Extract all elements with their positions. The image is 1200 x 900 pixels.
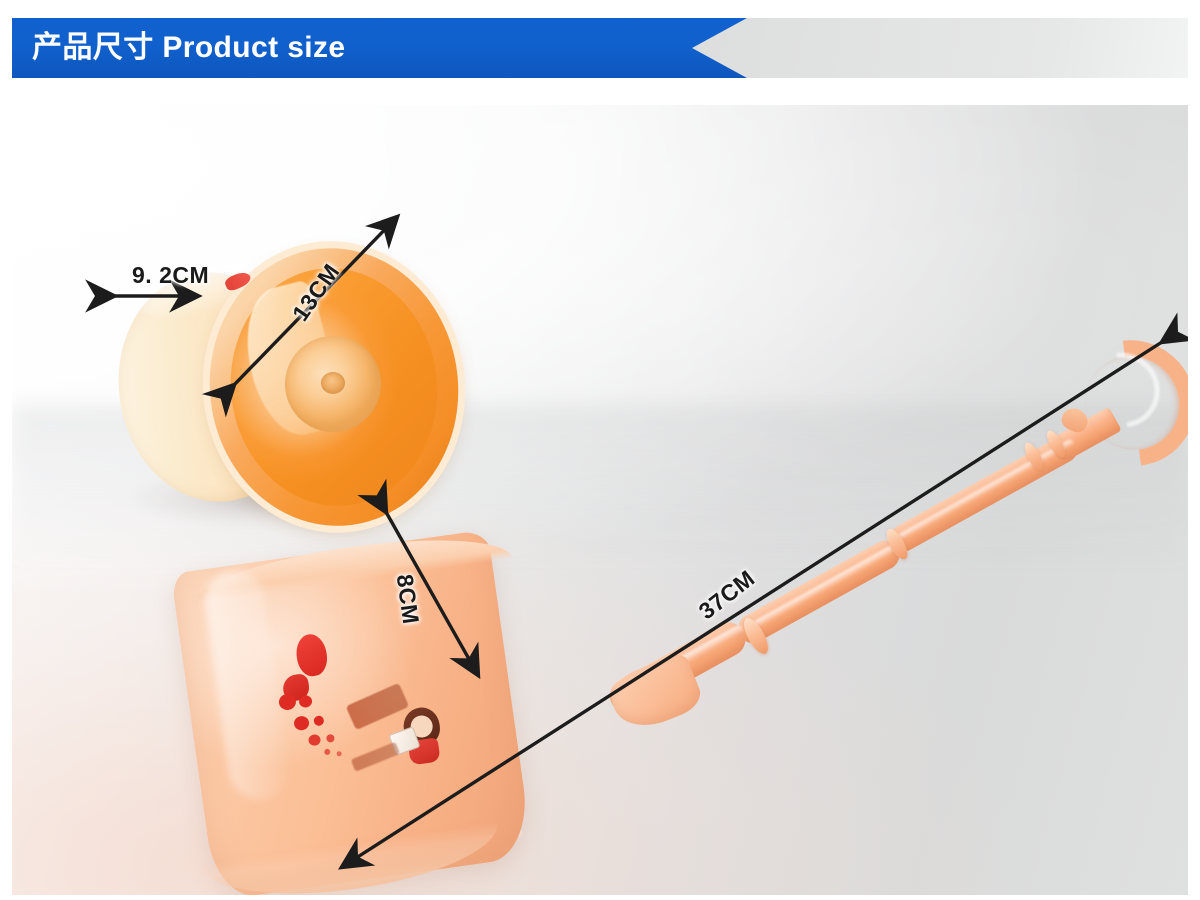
- dimension-arrow-brush-length: [342, 342, 1162, 867]
- dimension-label-holder-depth: 9. 2CM: [132, 262, 209, 289]
- product-photo: 9. 2CM 13CM 8CM 37CM: [12, 105, 1188, 895]
- product-size-infographic: 产品尺寸 Product size: [0, 0, 1200, 900]
- section-title: 产品尺寸 Product size: [32, 18, 346, 78]
- dimension-overlay: [12, 105, 1188, 895]
- section-header-ribbon: 产品尺寸 Product size: [12, 18, 1188, 78]
